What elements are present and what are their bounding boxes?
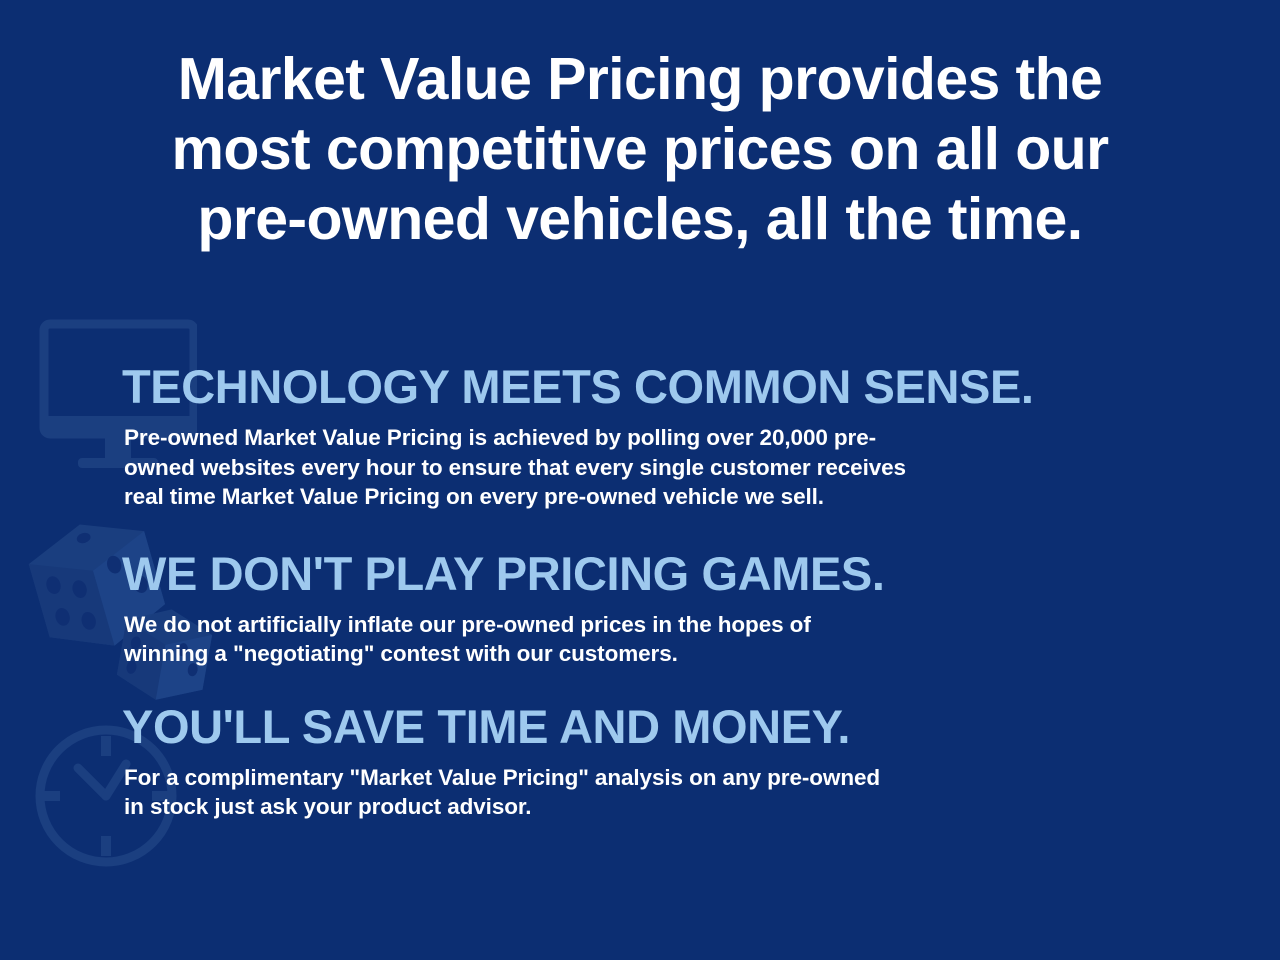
section-pricing-games: WE DON'T PLAY PRICING GAMES. We do not a… [0, 549, 1280, 669]
content-sections: TECHNOLOGY MEETS COMMON SENSE. Pre-owned… [0, 362, 1280, 822]
body-line: owned websites every hour to ensure that… [124, 453, 1109, 483]
section-body-save-time-money: For a complimentary "Market Value Pricin… [124, 763, 1109, 822]
headline-line-3: pre-owned vehicles, all the time. [60, 184, 1220, 254]
section-save-time-money: YOU'LL SAVE TIME AND MONEY. For a compli… [0, 702, 1280, 822]
slide-canvas: Market Value Pricing provides the most c… [0, 0, 1280, 960]
headline-line-1: Market Value Pricing provides the [60, 44, 1220, 114]
section-spacer [0, 669, 1280, 702]
headline-line-2: most competitive prices on all our [60, 114, 1220, 184]
section-heading-save-time-money: YOU'LL SAVE TIME AND MONEY. [122, 702, 1280, 752]
body-line: Pre-owned Market Value Pricing is achiev… [124, 423, 1109, 453]
body-line: We do not artificially inflate our pre-o… [124, 610, 1109, 640]
body-line: winning a "negotiating" contest with our… [124, 639, 1109, 669]
section-heading-pricing-games: WE DON'T PLAY PRICING GAMES. [122, 549, 1280, 599]
body-line: in stock just ask your product advisor. [124, 792, 1109, 822]
section-body-technology: Pre-owned Market Value Pricing is achiev… [124, 423, 1109, 512]
section-technology: TECHNOLOGY MEETS COMMON SENSE. Pre-owned… [0, 362, 1280, 512]
section-heading-technology: TECHNOLOGY MEETS COMMON SENSE. [122, 362, 1280, 412]
body-line: real time Market Value Pricing on every … [124, 482, 1109, 512]
section-spacer [0, 512, 1280, 549]
body-line: For a complimentary "Market Value Pricin… [124, 763, 1109, 793]
page-title: Market Value Pricing provides the most c… [60, 44, 1220, 254]
section-body-pricing-games: We do not artificially inflate our pre-o… [124, 610, 1109, 669]
